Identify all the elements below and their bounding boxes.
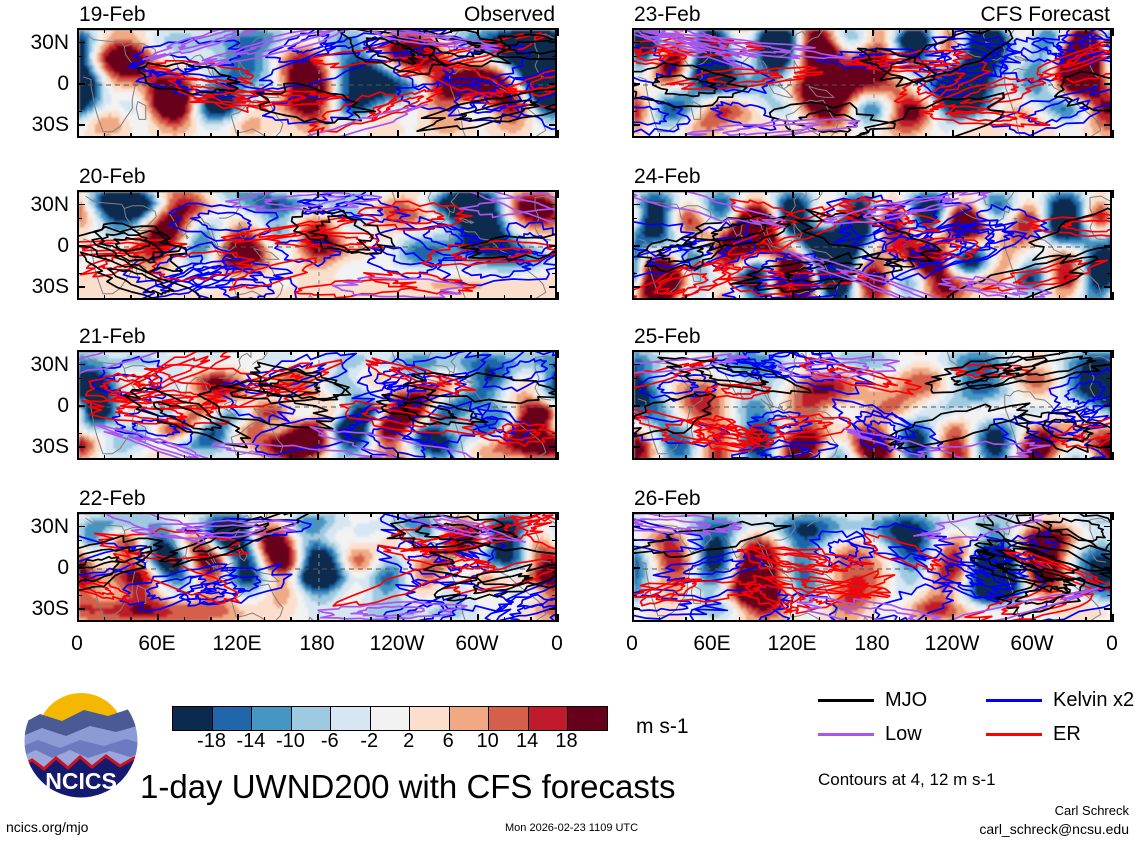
axis-tick: [549, 364, 557, 366]
axis-tick: [77, 111, 82, 113]
axis-tick: [370, 28, 372, 33]
axis-tick: [210, 350, 212, 355]
axis-tick: [845, 28, 847, 33]
axis-tick: [1032, 28, 1034, 36]
axis-tick: [632, 218, 637, 220]
axis-tick: [979, 512, 981, 517]
axis-tick: [317, 28, 319, 36]
generated-timestamp: Mon 2026-02-23 1109 UTC: [505, 823, 638, 834]
axis-tick: [1112, 614, 1114, 622]
axis-tick: [104, 133, 106, 138]
axis-tick: [712, 130, 714, 138]
axis-tick: [632, 292, 634, 300]
axis-tick: [317, 130, 319, 138]
axis-tick: [1107, 595, 1112, 597]
legend-label: MJO: [885, 690, 927, 710]
axis-tick: [504, 190, 506, 195]
axis-tick: [130, 350, 132, 355]
axis-tick: [317, 512, 319, 520]
axis-tick: [290, 28, 292, 33]
axis-tick: [739, 190, 741, 195]
colorbar-tick-label: -2: [360, 731, 378, 751]
axis-tick: [1085, 617, 1087, 622]
axis-tick: [549, 608, 557, 610]
axis-tick: [317, 452, 319, 460]
axis-tick: [632, 83, 640, 85]
axis-tick: [765, 190, 767, 195]
axis-tick: [397, 130, 399, 138]
axis-tick: [925, 295, 927, 300]
colorbar-segment: [213, 707, 253, 730]
colorbar-tick-label: 18: [555, 731, 577, 751]
axis-tick: [370, 190, 372, 195]
axis-tick: [1104, 204, 1112, 206]
axis-tick: [450, 350, 452, 355]
axis-tick: [557, 614, 559, 622]
axis-tick: [872, 190, 874, 198]
axis-tick: [1104, 42, 1112, 44]
axis-tick: [530, 350, 532, 355]
axis-tick: [899, 190, 901, 195]
colorbar-units-label: m s-1: [636, 716, 689, 737]
axis-tick: [237, 452, 239, 460]
axis-tick: [237, 350, 239, 358]
axis-tick: [632, 286, 640, 288]
axis-tick: [344, 617, 346, 622]
axis-tick: [632, 614, 634, 622]
axis-tick: [1059, 512, 1061, 517]
axis-tick: [290, 190, 292, 195]
axis-tick: [659, 617, 661, 622]
axis-tick: [1059, 350, 1061, 355]
axis-tick: [344, 133, 346, 138]
axis-tick: [1112, 190, 1114, 198]
axis-tick: [1112, 28, 1114, 36]
panel-ticks: [77, 28, 557, 138]
axis-tick: [184, 28, 186, 33]
y-axis-label: 0: [5, 235, 69, 256]
axis-tick: [1059, 190, 1061, 195]
axis-tick: [1104, 286, 1112, 288]
axis-tick: [77, 608, 85, 610]
axis-tick: [77, 452, 79, 460]
legend-item-er: ER: [986, 722, 1081, 746]
axis-tick: [210, 190, 212, 195]
axis-tick: [424, 133, 426, 138]
axis-tick: [1085, 295, 1087, 300]
axis-tick: [557, 452, 559, 460]
axis-tick: [450, 455, 452, 460]
axis-tick: [1059, 28, 1061, 33]
axis-tick: [157, 190, 159, 198]
axis-tick: [184, 455, 186, 460]
panel-date-label: 26-Feb: [634, 488, 701, 509]
axis-tick: [397, 614, 399, 622]
legend-item-mjo: MJO: [818, 688, 927, 712]
ncics-logo: NCICS: [22, 682, 140, 800]
axis-tick: [1005, 28, 1007, 33]
axis-tick: [370, 350, 372, 355]
axis-tick: [77, 595, 82, 597]
axis-tick: [1112, 452, 1114, 460]
panel-ticks: [632, 350, 1112, 460]
axis-tick: [344, 350, 346, 355]
axis-tick: [979, 455, 981, 460]
axis-tick: [819, 617, 821, 622]
axis-tick: [552, 433, 557, 435]
axis-tick: [1032, 512, 1034, 520]
axis-tick: [632, 111, 637, 113]
colorbar-segment: [568, 707, 607, 730]
axis-tick: [504, 350, 506, 355]
axis-tick: [77, 273, 82, 275]
x-axis-label: 0: [42, 633, 112, 654]
axis-tick: [317, 350, 319, 358]
axis-tick: [344, 512, 346, 517]
axis-tick: [872, 130, 874, 138]
axis-tick: [632, 567, 640, 569]
axis-tick: [632, 608, 640, 610]
axis-tick: [925, 190, 927, 195]
axis-tick: [184, 350, 186, 355]
axis-tick: [549, 446, 557, 448]
axis-tick: [557, 130, 559, 138]
axis-tick: [504, 512, 506, 517]
axis-tick: [104, 28, 106, 33]
axis-tick: [549, 405, 557, 407]
axis-tick: [1085, 350, 1087, 355]
axis-tick: [552, 111, 557, 113]
axis-tick: [1005, 133, 1007, 138]
colorbar-segment: [450, 707, 490, 730]
axis-tick: [344, 295, 346, 300]
axis-tick: [899, 512, 901, 517]
axis-tick: [952, 28, 954, 36]
axis-tick: [632, 56, 637, 58]
panel-ticks: [632, 512, 1112, 622]
axis-tick: [1005, 190, 1007, 195]
axis-tick: [77, 130, 79, 138]
axis-tick: [450, 295, 452, 300]
axis-tick: [792, 350, 794, 358]
legend-item-low: Low: [818, 722, 922, 746]
axis-tick: [1005, 512, 1007, 517]
axis-tick: [77, 190, 79, 198]
axis-tick: [765, 455, 767, 460]
axis-tick: [765, 295, 767, 300]
axis-tick: [157, 292, 159, 300]
axis-tick: [77, 286, 85, 288]
x-axis-label: 120W: [917, 633, 987, 654]
axis-tick: [77, 292, 79, 300]
y-axis-label: 30S: [5, 114, 69, 135]
axis-tick: [925, 350, 927, 355]
axis-tick: [819, 350, 821, 355]
axis-tick: [765, 133, 767, 138]
axis-tick: [925, 28, 927, 33]
legend-label: ER: [1053, 724, 1081, 744]
legend-swatch-line: [986, 699, 1042, 702]
axis-tick: [477, 130, 479, 138]
axis-tick: [632, 526, 640, 528]
legend-label: Low: [885, 724, 922, 744]
axis-tick: [77, 124, 85, 126]
axis-tick: [557, 292, 559, 300]
axis-tick: [424, 350, 426, 355]
axis-tick: [184, 133, 186, 138]
axis-tick: [344, 28, 346, 33]
axis-tick: [872, 28, 874, 36]
axis-tick: [477, 452, 479, 460]
axis-tick: [632, 245, 640, 247]
axis-tick: [552, 273, 557, 275]
axis-tick: [77, 512, 79, 520]
panel-ticks: [632, 28, 1112, 138]
y-axis-label: 30N: [5, 32, 69, 53]
axis-tick: [77, 433, 82, 435]
axis-tick: [979, 190, 981, 195]
axis-tick: [549, 286, 557, 288]
axis-tick: [290, 350, 292, 355]
axis-tick: [157, 350, 159, 358]
axis-tick: [632, 124, 640, 126]
axis-tick: [130, 512, 132, 517]
axis-tick: [210, 295, 212, 300]
colorbar-tick-label: 2: [403, 731, 414, 751]
site-url[interactable]: ncics.org/mjo: [6, 820, 88, 834]
axis-tick: [792, 512, 794, 520]
legend-swatch-line: [986, 733, 1042, 736]
axis-tick: [899, 617, 901, 622]
axis-tick: [739, 512, 741, 517]
axis-tick: [979, 295, 981, 300]
axis-tick: [530, 28, 532, 33]
axis-tick: [370, 512, 372, 517]
axis-tick: [290, 295, 292, 300]
axis-tick: [845, 295, 847, 300]
axis-tick: [450, 617, 452, 622]
axis-tick: [344, 190, 346, 195]
axis-tick: [1107, 273, 1112, 275]
y-axis-label: 30N: [5, 354, 69, 375]
colorbar-tick-label: -10: [276, 731, 305, 751]
axis-tick: [104, 455, 106, 460]
axis-tick: [632, 405, 640, 407]
axis-tick: [845, 512, 847, 517]
axis-tick: [685, 350, 687, 355]
axis-tick: [952, 452, 954, 460]
panel-date-label: 25-Feb: [634, 326, 701, 347]
y-axis-label: 0: [5, 557, 69, 578]
y-axis-label: 30N: [5, 194, 69, 215]
axis-tick: [632, 595, 637, 597]
axis-tick: [1005, 350, 1007, 355]
axis-tick: [424, 617, 426, 622]
axis-tick: [504, 133, 506, 138]
axis-tick: [552, 218, 557, 220]
axis-tick: [450, 133, 452, 138]
y-axis-label: 30S: [5, 276, 69, 297]
axis-tick: [290, 617, 292, 622]
axis-tick: [739, 133, 741, 138]
axis-tick: [77, 42, 85, 44]
axis-tick: [1107, 540, 1112, 542]
legend-swatch-line: [818, 733, 874, 736]
axis-tick: [77, 350, 79, 358]
axis-tick: [845, 617, 847, 622]
axis-tick: [712, 350, 714, 358]
axis-tick: [659, 512, 661, 517]
axis-tick: [765, 350, 767, 355]
axis-tick: [739, 28, 741, 33]
axis-tick: [317, 614, 319, 622]
axis-tick: [1104, 526, 1112, 528]
colorbar: [172, 706, 608, 731]
axis-tick: [552, 56, 557, 58]
axis-tick: [530, 295, 532, 300]
axis-tick: [685, 617, 687, 622]
column-header-right: CFS Forecast: [980, 4, 1110, 25]
axis-tick: [952, 512, 954, 520]
axis-tick: [264, 350, 266, 355]
panel-ticks: [632, 190, 1112, 300]
colorbar-segment: [173, 707, 213, 730]
axis-tick: [979, 28, 981, 33]
axis-tick: [344, 455, 346, 460]
panel-date-label: 20-Feb: [79, 166, 146, 187]
axis-tick: [1104, 405, 1112, 407]
axis-tick: [659, 455, 661, 460]
axis-tick: [77, 378, 82, 380]
axis-tick: [899, 350, 901, 355]
axis-tick: [210, 133, 212, 138]
colorbar-tick-label: 10: [476, 731, 498, 751]
axis-tick: [552, 595, 557, 597]
colorbar-tick-labels: -18-14-10-6-226101418: [172, 731, 608, 755]
axis-tick: [845, 455, 847, 460]
axis-tick: [632, 452, 634, 460]
axis-tick: [397, 190, 399, 198]
axis-tick: [104, 617, 106, 622]
x-axis-label: 0: [597, 633, 667, 654]
axis-tick: [530, 617, 532, 622]
axis-tick: [477, 512, 479, 520]
axis-tick: [237, 130, 239, 138]
colorbar-tick-label: 6: [443, 731, 454, 751]
author-name: Carl Schreck: [1055, 804, 1129, 817]
x-axis-label: 180: [282, 633, 352, 654]
axis-tick: [77, 446, 85, 448]
axis-tick: [210, 28, 212, 33]
axis-tick: [845, 350, 847, 355]
axis-tick: [819, 512, 821, 517]
axis-tick: [685, 190, 687, 195]
axis-tick: [1032, 452, 1034, 460]
x-axis-label: 0: [1077, 633, 1135, 654]
axis-tick: [557, 190, 559, 198]
axis-tick: [819, 190, 821, 195]
axis-tick: [1059, 295, 1061, 300]
axis-tick: [104, 512, 106, 517]
axis-tick: [659, 133, 661, 138]
axis-tick: [632, 42, 640, 44]
axis-tick: [1104, 245, 1112, 247]
axis-tick: [845, 133, 847, 138]
axis-tick: [130, 28, 132, 33]
axis-tick: [659, 295, 661, 300]
axis-tick: [450, 190, 452, 195]
axis-tick: [792, 28, 794, 36]
axis-tick: [157, 452, 159, 460]
axis-tick: [1104, 608, 1112, 610]
axis-tick: [739, 295, 741, 300]
axis-tick: [872, 292, 874, 300]
axis-tick: [1032, 350, 1034, 358]
axis-tick: [184, 617, 186, 622]
axis-tick: [104, 295, 106, 300]
legend-item-kelvin-x2: Kelvin x2: [986, 688, 1134, 712]
colorbar-tick-label: -14: [236, 731, 265, 751]
axis-tick: [632, 273, 637, 275]
axis-tick: [549, 245, 557, 247]
axis-tick: [632, 28, 634, 36]
axis-tick: [370, 455, 372, 460]
axis-tick: [504, 455, 506, 460]
axis-tick: [424, 512, 426, 517]
axis-tick: [925, 455, 927, 460]
axis-tick: [77, 204, 85, 206]
axis-tick: [712, 190, 714, 198]
axis-tick: [397, 292, 399, 300]
x-axis-label: 180: [837, 633, 907, 654]
axis-tick: [77, 526, 85, 528]
axis-tick: [317, 190, 319, 198]
axis-tick: [1085, 455, 1087, 460]
colorbar-segment: [252, 707, 292, 730]
x-axis-label: 60E: [122, 633, 192, 654]
column-header-left: Observed: [464, 4, 555, 25]
axis-tick: [264, 133, 266, 138]
axis-tick: [819, 295, 821, 300]
axis-tick: [237, 190, 239, 198]
axis-tick: [792, 292, 794, 300]
author-email[interactable]: carl_schreck@ncsu.edu: [979, 822, 1129, 836]
axis-tick: [77, 83, 85, 85]
axis-tick: [1104, 124, 1112, 126]
axis-tick: [1085, 512, 1087, 517]
axis-tick: [1104, 83, 1112, 85]
axis-tick: [659, 190, 661, 195]
panel-ticks: [77, 190, 557, 300]
axis-tick: [765, 512, 767, 517]
axis-tick: [210, 512, 212, 517]
page-title: 1-day UWND200 with CFS forecasts: [140, 770, 676, 803]
axis-tick: [792, 452, 794, 460]
axis-tick: [549, 204, 557, 206]
axis-tick: [552, 540, 557, 542]
axis-tick: [1032, 614, 1034, 622]
axis-tick: [1107, 378, 1112, 380]
axis-tick: [1005, 295, 1007, 300]
axis-tick: [77, 218, 82, 220]
axis-tick: [792, 614, 794, 622]
x-axis-label: 60W: [442, 633, 512, 654]
axis-tick: [210, 455, 212, 460]
colorbar-segment: [292, 707, 332, 730]
axis-tick: [712, 512, 714, 520]
axis-tick: [130, 617, 132, 622]
axis-tick: [1005, 455, 1007, 460]
